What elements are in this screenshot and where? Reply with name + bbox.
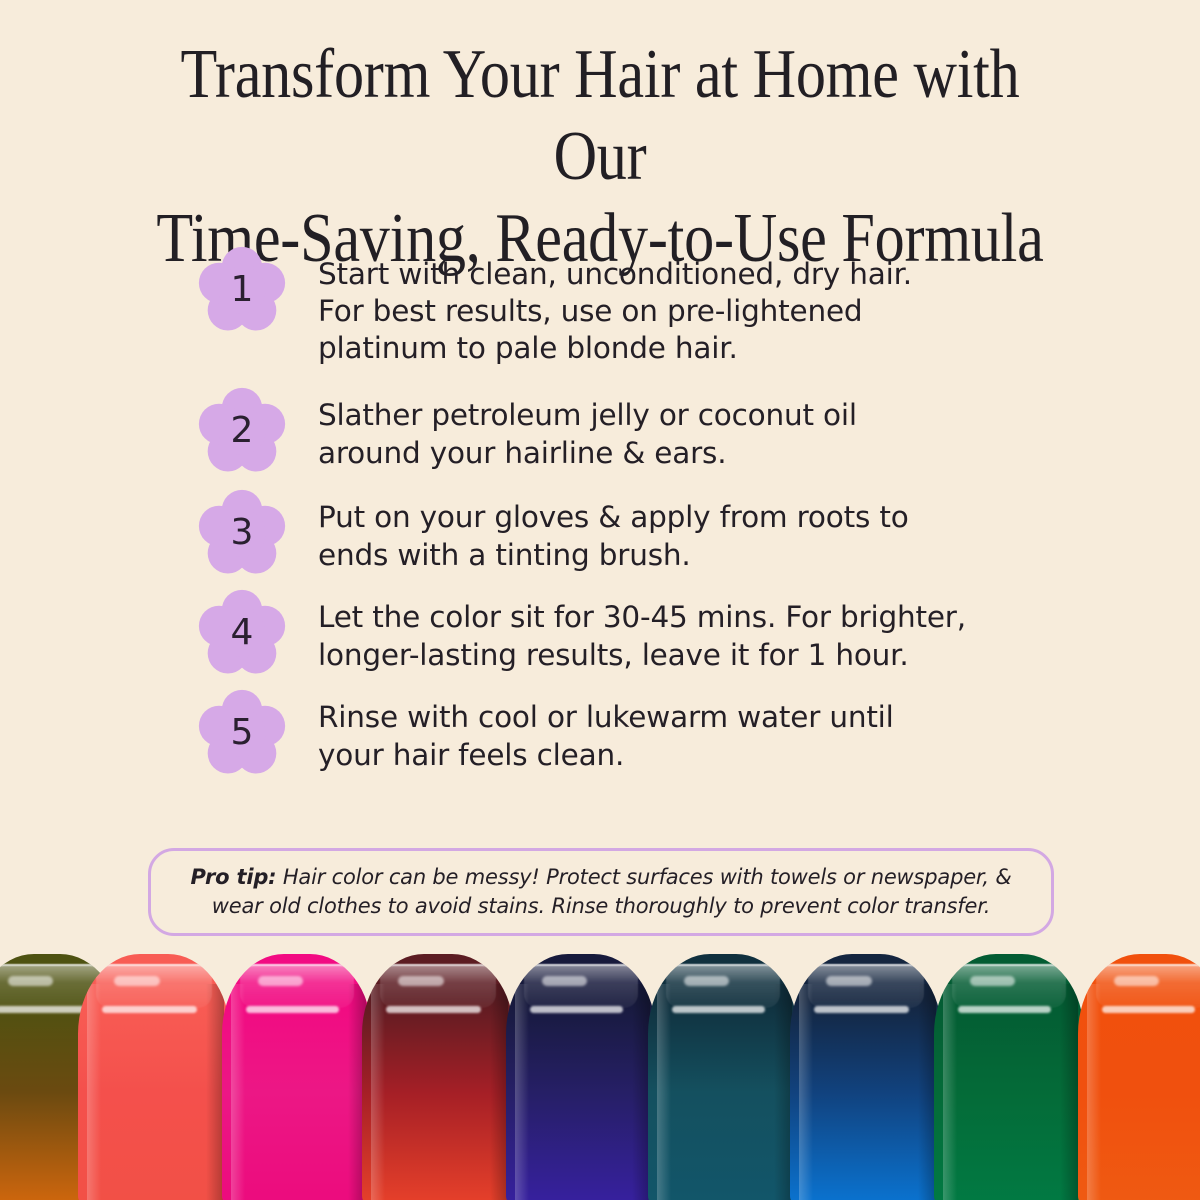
flower-badge-icon: 5: [198, 689, 286, 777]
page-title: Transform Your Hair at Home with Our Tim…: [127, 34, 1073, 280]
bottle-highlight-left: [943, 984, 957, 1200]
step-number: 2: [198, 387, 286, 475]
bottle-specular: [1114, 976, 1159, 986]
bottle-highlight-left: [657, 984, 671, 1200]
step-text: Slather petroleum jelly or coconut oil a…: [318, 393, 1098, 471]
bottle-specular: [970, 976, 1015, 986]
bottle-cap-gloss: [1096, 964, 1200, 1008]
bottle-cap-gloss: [240, 964, 354, 1008]
bottle-streak: [530, 1006, 623, 1013]
list-item: 3 Put on your gloves & apply from roots …: [198, 495, 1098, 577]
dye-bottle-coral-red: [78, 954, 230, 1200]
list-item: 2 Slather petroleum jelly or coconut oil…: [198, 393, 1098, 475]
pro-tip-text: Pro tip: Hair color can be messy! Protec…: [177, 863, 1025, 922]
bottle-cap-gloss: [952, 964, 1066, 1008]
bottle-specular: [114, 976, 160, 986]
list-item: 1 Start with clean, unconditioned, dry h…: [198, 252, 1098, 367]
step-number: 1: [198, 246, 286, 334]
pro-tip-callout: Pro tip: Hair color can be messy! Protec…: [148, 848, 1054, 936]
step-text: Rinse with cool or lukewarm water until …: [318, 695, 1098, 773]
steps-list: 1 Start with clean, unconditioned, dry h…: [198, 252, 1098, 799]
dye-bottle-royal-blue: [790, 954, 942, 1200]
step-text: Let the color sit for 30-45 mins. For br…: [318, 595, 1098, 673]
bottle-photo-strip: [0, 938, 1200, 1200]
list-item: 5 Rinse with cool or lukewarm water unti…: [198, 695, 1098, 777]
bottle-highlight-left: [799, 984, 813, 1200]
bottle-cap-gloss: [96, 964, 212, 1008]
bottle-shadow-right: [1060, 984, 1078, 1200]
step-number: 3: [198, 489, 286, 577]
poster-root: Transform Your Hair at Home with Our Tim…: [0, 0, 1200, 1200]
bottle-cap-gloss: [524, 964, 638, 1008]
step-text: Start with clean, unconditioned, dry hai…: [318, 252, 1098, 367]
bottle-highlight-left: [515, 984, 529, 1200]
bottle-specular: [258, 976, 303, 986]
dye-bottle-deep-red: [362, 954, 514, 1200]
flower-badge-icon: 3: [198, 489, 286, 577]
bottle-cap-gloss: [808, 964, 924, 1008]
bottle-streak: [958, 1006, 1051, 1013]
bottle-streak: [386, 1006, 480, 1013]
bottle-specular: [8, 976, 53, 986]
dye-bottle-hot-pink: [222, 954, 372, 1200]
bottle-specular: [826, 976, 872, 986]
step-number: 5: [198, 689, 286, 777]
bottle-streak: [246, 1006, 339, 1013]
bottle-highlight-left: [231, 984, 245, 1200]
bottle-streak: [1102, 1006, 1195, 1013]
flower-badge-icon: 2: [198, 387, 286, 475]
flower-badge-icon: 4: [198, 589, 286, 677]
bottle-highlight-left: [371, 984, 385, 1200]
bottle-highlight-left: [1087, 984, 1101, 1200]
list-item: 4 Let the color sit for 30-45 mins. For …: [198, 595, 1098, 677]
step-number: 4: [198, 589, 286, 677]
dye-bottle-emerald-green: [934, 954, 1084, 1200]
bottle-highlight-left: [87, 984, 101, 1200]
bottle-specular: [542, 976, 587, 986]
dye-bottle-indigo-violet: [506, 954, 656, 1200]
dye-bottle-bright-orange: [1078, 954, 1200, 1200]
flower-badge-icon: 1: [198, 246, 286, 334]
bottle-cap-gloss: [666, 964, 780, 1008]
bottle-streak: [814, 1006, 908, 1013]
pro-tip-body: Hair color can be messy! Protect surface…: [212, 865, 1012, 918]
bottle-streak: [102, 1006, 196, 1013]
bottle-cap-gloss: [380, 964, 496, 1008]
bottle-streak: [672, 1006, 765, 1013]
bottle-specular: [398, 976, 444, 986]
dye-bottle-teal-blue: [648, 954, 798, 1200]
bottle-specular: [684, 976, 729, 986]
bottle-streak: [0, 1006, 89, 1013]
pro-tip-label: Pro tip:: [190, 865, 276, 889]
step-text: Put on your gloves & apply from roots to…: [318, 495, 1098, 573]
